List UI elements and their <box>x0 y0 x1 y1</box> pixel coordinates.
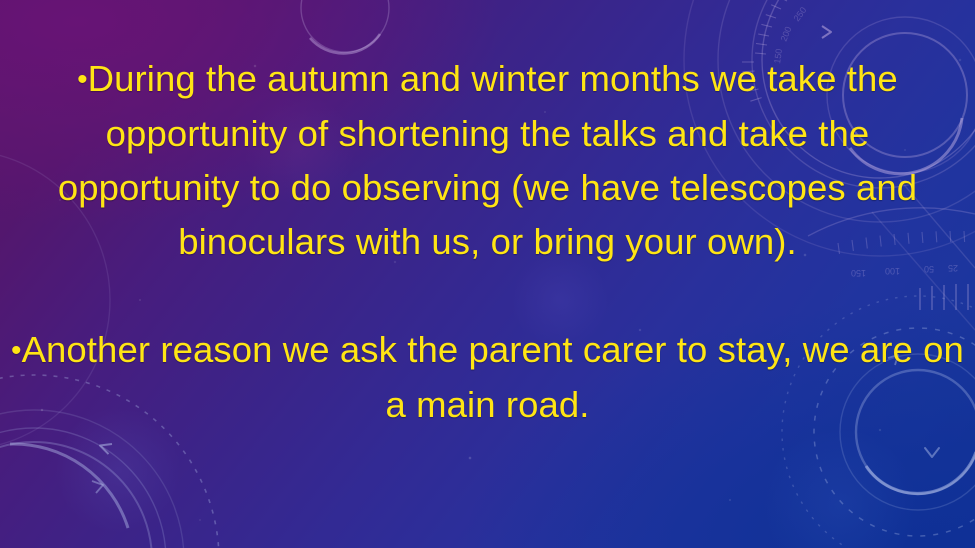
bullet-paragraph-1: •During the autumn and winter months we … <box>10 52 965 269</box>
svg-text:200: 200 <box>779 25 794 43</box>
slide-canvas: 150 200 250 150 100 50 25 <box>0 0 975 548</box>
bullet-marker-2: • <box>11 334 22 367</box>
svg-text:250: 250 <box>792 5 809 23</box>
bullet-text-1: During the autumn and winter months we t… <box>58 58 917 262</box>
slide-body-text: •During the autumn and winter months we … <box>10 52 965 432</box>
circle-top-center <box>301 0 389 53</box>
paragraph-spacer <box>10 269 965 323</box>
bullet-paragraph-2: •Another reason we ask the parent carer … <box>10 323 965 432</box>
bullet-marker-1: • <box>77 63 88 96</box>
bullet-text-2: Another reason we ask the parent carer t… <box>22 329 964 425</box>
